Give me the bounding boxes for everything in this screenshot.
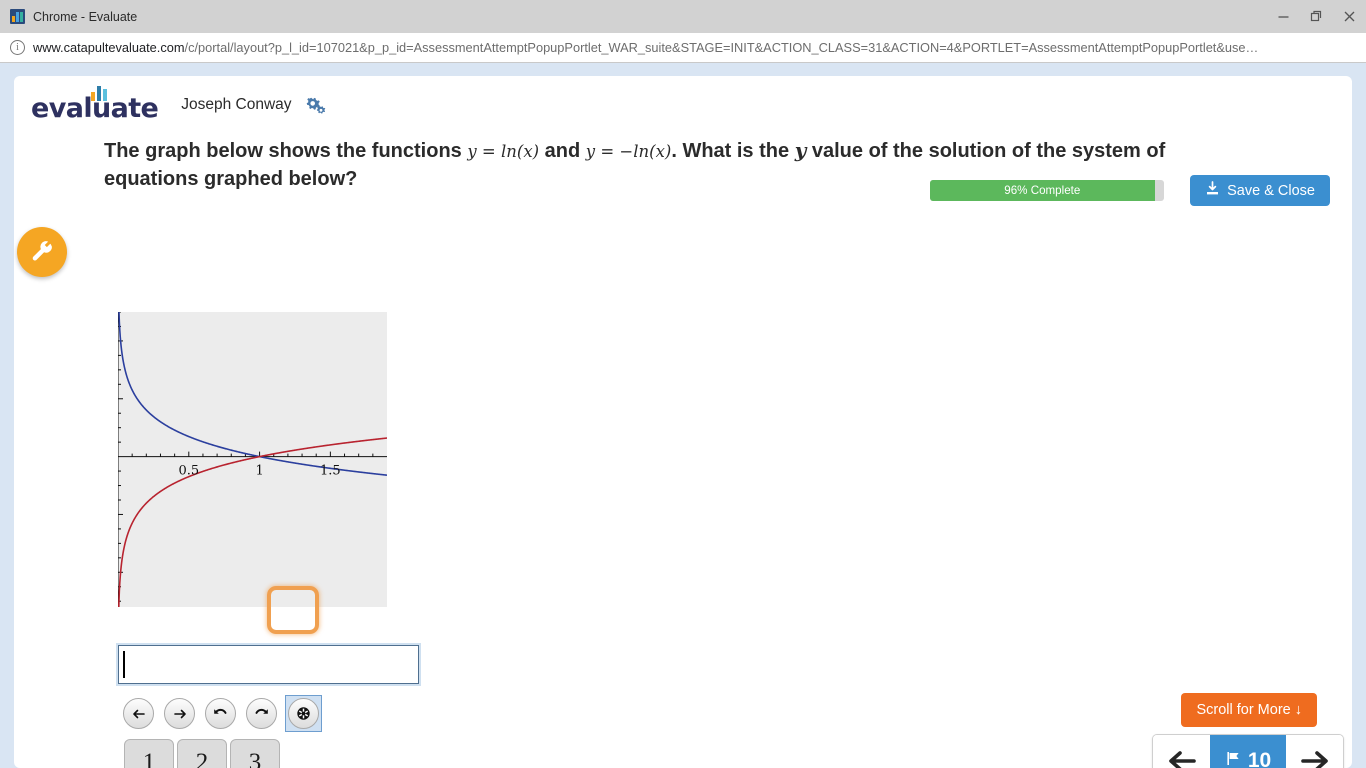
- question-math-1: y = ln(x): [467, 142, 539, 161]
- close-icon[interactable]: [1333, 0, 1366, 33]
- url-domain: www.catapultevaluate.com: [33, 40, 185, 55]
- undo-icon[interactable]: [205, 698, 236, 729]
- arrow-left-icon[interactable]: [123, 698, 154, 729]
- clear-circle-icon[interactable]: [288, 698, 319, 729]
- answer-input[interactable]: [118, 645, 419, 684]
- numeric-keypad: 123456: [124, 739, 280, 768]
- progress-bar-fill: 96% Complete: [930, 180, 1155, 201]
- save-and-close-label: Save & Close: [1227, 183, 1315, 199]
- keypad-key-1[interactable]: 1: [124, 739, 174, 768]
- question-part-3: . What is the: [671, 140, 789, 162]
- svg-text:1.5: 1.5: [320, 464, 341, 479]
- graph-svg: 0.511.5-4-224: [118, 312, 387, 607]
- site-info-icon[interactable]: [10, 40, 25, 55]
- text-caret: [123, 651, 125, 678]
- page-background: evaluate Joseph Conway 96: [0, 63, 1366, 768]
- username-label: Joseph Conway: [181, 96, 291, 114]
- scroll-for-more-button[interactable]: Scroll for More ↓: [1181, 693, 1317, 727]
- browser-tab[interactable]: Chrome - Evaluate: [0, 9, 137, 24]
- next-question-button[interactable]: [1286, 735, 1343, 768]
- progress-track: 96% Complete: [930, 180, 1164, 201]
- question-part-1: The graph below shows the functions: [104, 140, 462, 162]
- question-number: 10: [1248, 749, 1271, 768]
- address-bar[interactable]: www.catapultevaluate.com/c/portal/layout…: [0, 33, 1366, 63]
- url-text: www.catapultevaluate.com/c/portal/layout…: [33, 40, 1258, 55]
- undo-wrapper: [203, 696, 238, 731]
- keypad-key-3[interactable]: 3: [230, 739, 280, 768]
- save-and-close-button[interactable]: Save & Close: [1190, 175, 1330, 206]
- evaluate-logo: evaluate: [31, 88, 158, 122]
- window-titlebar: Chrome - Evaluate: [0, 0, 1366, 33]
- download-icon: [1205, 181, 1220, 200]
- graph-background: [118, 312, 387, 607]
- move-right-wrapper: [162, 696, 197, 731]
- question-math-2: y = −ln(x): [586, 142, 672, 161]
- chart-favicon: [10, 9, 25, 24]
- clear-wrapper: [285, 695, 322, 732]
- keypad-key-2[interactable]: 2: [177, 739, 227, 768]
- flag-icon: [1225, 749, 1242, 768]
- restore-icon[interactable]: [1300, 0, 1333, 33]
- assessment-card: evaluate Joseph Conway 96: [14, 76, 1352, 768]
- app-header: evaluate Joseph Conway 96: [14, 76, 1352, 134]
- previous-question-button[interactable]: [1153, 735, 1210, 768]
- redo-wrapper: [244, 696, 279, 731]
- question-italic-y: y: [795, 138, 807, 162]
- function-graph: 0.511.5-4-224: [118, 312, 387, 607]
- svg-text:0.5: 0.5: [178, 464, 199, 479]
- minimize-icon[interactable]: [1267, 0, 1300, 33]
- arrow-right-icon[interactable]: [164, 698, 195, 729]
- svg-text:1: 1: [255, 464, 263, 479]
- window-controls: [1267, 0, 1366, 33]
- math-edit-toolbar: [121, 695, 322, 732]
- url-path: /c/portal/layout?p_l_id=107021&p_p_id=As…: [185, 40, 1259, 55]
- cursor-highlight-marker: [267, 586, 319, 634]
- move-left-wrapper: [121, 696, 156, 731]
- question-pager: 10: [1152, 734, 1344, 768]
- current-question-indicator[interactable]: 10: [1210, 735, 1286, 768]
- window-title: Chrome - Evaluate: [33, 10, 137, 24]
- wrench-icon[interactable]: [17, 227, 67, 277]
- progress-label: 96% Complete: [1004, 184, 1080, 197]
- logo-bars-icon: [91, 85, 107, 101]
- question-part-2: and: [545, 140, 581, 162]
- gears-icon[interactable]: [305, 95, 327, 115]
- redo-icon[interactable]: [246, 698, 277, 729]
